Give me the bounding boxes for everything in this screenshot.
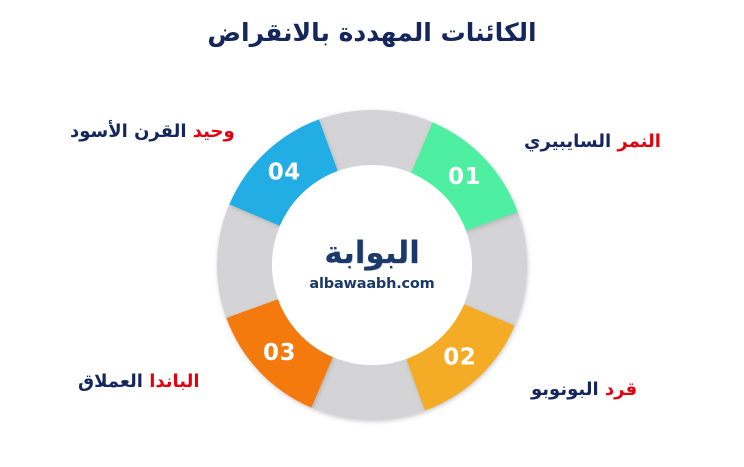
segment-number-02: 02 [443,344,476,370]
logo-domain-text: albawaabh.com [309,276,434,292]
chart-label-01-rest: السايبيري [524,131,617,152]
chart-label-02-rest: البونوبو [531,379,605,400]
segment-number-03: 03 [263,340,296,366]
page-title: الكائنات المهددة بالانقراض [0,18,744,47]
chart-label-02: قرد البونوبو [531,379,637,400]
segment-number-01: 01 [448,164,481,190]
segment-number-04: 04 [268,160,301,186]
chart-label-02-highlight: قرد [605,379,637,400]
chart-label-04-highlight: وحيد [193,121,235,142]
chart-label-03: الباندا العملاق [78,371,200,392]
chart-label-03-rest: العملاق [78,371,149,392]
infographic-canvas: الكائنات المهددة بالانقراض 01020304 البو… [0,0,744,467]
logo-wordmark: البوابة [324,238,419,269]
chart-label-03-highlight: الباندا [149,371,199,392]
chart-label-01: النمر السايبيري [524,131,661,152]
chart-label-01-highlight: النمر [617,131,661,152]
chart-label-04: وحيد القرن الأسود [70,121,235,142]
chart-label-04-rest: القرن الأسود [70,121,193,142]
center-logo: البوابة albawaabh.com [272,165,472,365]
